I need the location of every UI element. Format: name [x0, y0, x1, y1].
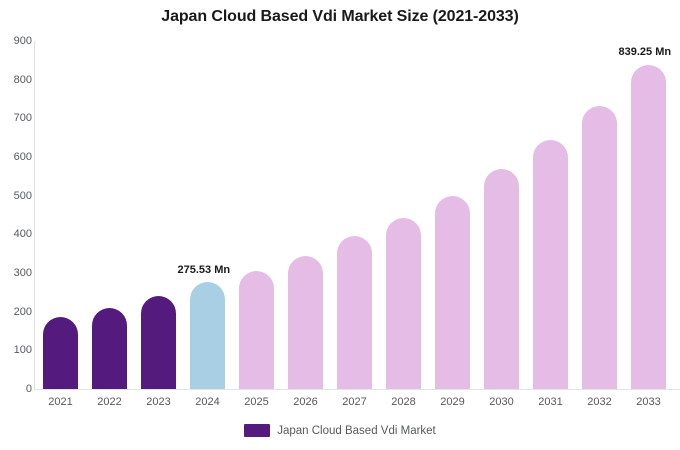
bar-2032[interactable]: [582, 106, 617, 389]
data-label-2033: 839.25 Mn: [619, 46, 672, 58]
x-axis-tick-label-2026: 2026: [288, 396, 323, 408]
x-axis-tick-label-2032: 2032: [582, 396, 617, 408]
x-axis-tick-label-2030: 2030: [484, 396, 519, 408]
bars-layer: 275.53 Mn839.25 Mn: [34, 41, 680, 389]
x-axis-tick-label-2021: 2021: [43, 396, 78, 408]
x-axis-tick-label-2029: 2029: [435, 396, 470, 408]
y-axis-tick-label: 100: [4, 344, 32, 356]
chart-legend: Japan Cloud Based Vdi Market: [0, 424, 680, 437]
bar-chart: Japan Cloud Based Vdi Market Size (2021-…: [0, 0, 680, 450]
y-axis-tick-label: 600: [4, 151, 32, 163]
y-axis-tick-label: 500: [4, 190, 32, 202]
x-axis-tick-label-2022: 2022: [92, 396, 127, 408]
bar-2033[interactable]: [631, 65, 666, 390]
x-axis-tick-label-2024: 2024: [190, 396, 225, 408]
chart-title: Japan Cloud Based Vdi Market Size (2021-…: [0, 8, 680, 26]
bar-2024[interactable]: [190, 282, 225, 389]
x-axis-tick-label-2023: 2023: [141, 396, 176, 408]
y-axis-tick-label: 900: [4, 35, 32, 47]
y-axis-tick-label: 700: [4, 112, 32, 124]
x-axis: 2021202220232024202520262027202820292030…: [34, 392, 680, 414]
legend-item[interactable]: Japan Cloud Based Vdi Market: [244, 424, 436, 437]
y-axis-tick-label: 200: [4, 306, 32, 318]
bar-2031[interactable]: [533, 140, 568, 389]
bar-2023[interactable]: [141, 296, 176, 389]
data-label-2024: 275.53 Mn: [178, 264, 231, 276]
bar-2026[interactable]: [288, 256, 323, 389]
bar-2027[interactable]: [337, 236, 372, 389]
y-axis: 0100200300400500600700800900: [0, 0, 32, 450]
x-axis-tick-label-2027: 2027: [337, 396, 372, 408]
x-axis-tick-label-2031: 2031: [533, 396, 568, 408]
bar-2021[interactable]: [43, 317, 78, 389]
bar-2022[interactable]: [92, 308, 127, 389]
y-axis-tick-label: 400: [4, 228, 32, 240]
legend-label: Japan Cloud Based Vdi Market: [277, 425, 436, 437]
legend-swatch-icon: [244, 424, 270, 437]
x-axis-tick-label-2033: 2033: [631, 396, 666, 408]
x-axis-line: [34, 389, 680, 390]
bar-2029[interactable]: [435, 196, 470, 389]
bar-2025[interactable]: [239, 271, 274, 389]
y-axis-tick-label: 0: [4, 383, 32, 395]
x-axis-tick-label-2025: 2025: [239, 396, 274, 408]
y-axis-tick-label: 300: [4, 267, 32, 279]
bar-2028[interactable]: [386, 218, 421, 389]
x-axis-tick-label-2028: 2028: [386, 396, 421, 408]
y-axis-tick-label: 800: [4, 74, 32, 86]
bar-2030[interactable]: [484, 169, 519, 389]
